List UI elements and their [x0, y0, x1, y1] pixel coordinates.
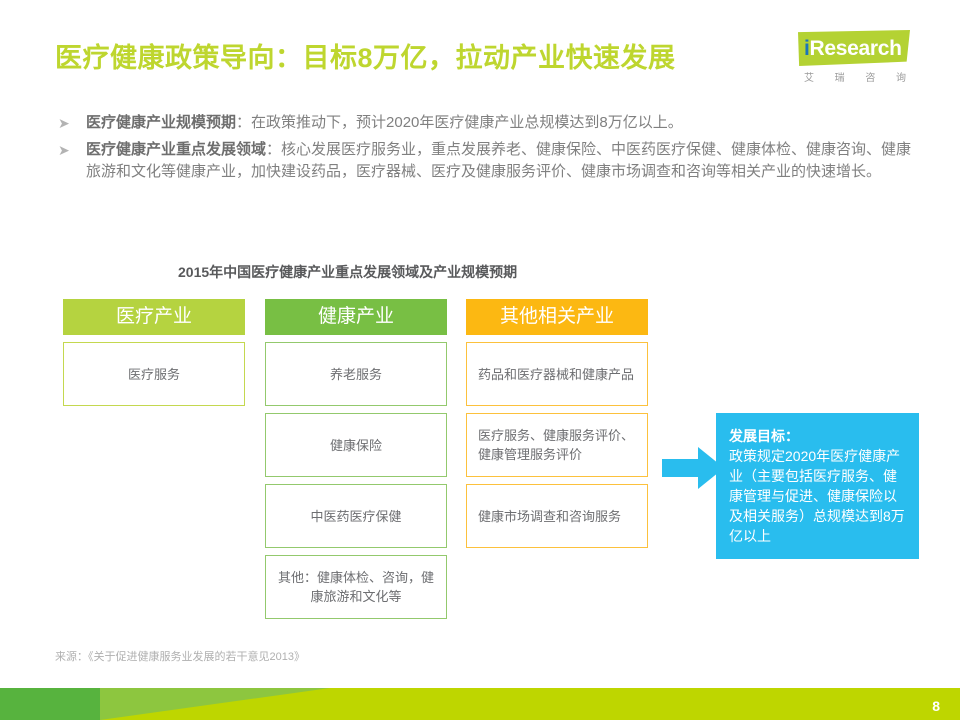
callout-heading: 发展目标：: [729, 427, 906, 446]
cell-label: 其他：健康体检、咨询，健康旅游和文化等: [277, 568, 435, 606]
table-cell: 医疗服务: [63, 342, 245, 406]
iresearch-logo: iResearch 艾 瑞 咨 询: [790, 30, 910, 88]
bullet-label: 医疗健康产业规模预期: [86, 114, 236, 131]
cell-label: 医疗服务: [128, 365, 180, 384]
bullet-item: ➤ 医疗健康产业规模预期：在政策推动下，预计2020年医疗健康产业总规模达到8万…: [58, 112, 918, 135]
bullet-label: 医疗健康产业重点发展领域: [86, 141, 266, 158]
table-cell: 健康保险: [265, 413, 447, 477]
column-header: 其他相关产业: [466, 299, 648, 335]
column-other-related-industry: 其他相关产业 药品和医疗器械和健康产品 医疗服务、健康服务评价、健康管理服务评价…: [466, 299, 648, 548]
bullet-text: ：在政策推动下，预计2020年医疗健康产业总规模达到8万亿以上。: [236, 114, 683, 131]
logo-sub-char-3: 咨: [865, 69, 875, 84]
logo-wordmark: iResearch: [804, 37, 909, 61]
column-health-industry: 健康产业 养老服务 健康保险 中医药医疗保健 其他：健康体检、咨询，健康旅游和文…: [265, 299, 447, 619]
cell-label: 医疗服务、健康服务评价、健康管理服务评价: [478, 426, 636, 464]
column-header: 医疗产业: [63, 299, 245, 335]
table-cell: 中医药医疗保健: [265, 484, 447, 548]
slide: 医疗健康政策导向：目标8万亿，拉动产业快速发展 iResearch 艾 瑞 咨 …: [0, 0, 960, 720]
bullet-body: 医疗健康产业规模预期：在政策推动下，预计2020年医疗健康产业总规模达到8万亿以…: [86, 112, 683, 135]
column-header: 健康产业: [265, 299, 447, 335]
bullet-arrow-icon: ➤: [58, 139, 86, 161]
footer-accent-block: [0, 688, 100, 720]
chart-title: 2015年中国医疗健康产业重点发展领域及产业规模预期: [178, 262, 517, 282]
bullet-list: ➤ 医疗健康产业规模预期：在政策推动下，预计2020年医疗健康产业总规模达到8万…: [58, 112, 918, 188]
table-cell: 健康市场调查和咨询服务: [466, 484, 648, 548]
arrow-stem: [662, 459, 700, 477]
footer-bar: 8: [0, 688, 960, 720]
cell-label: 健康保险: [330, 436, 382, 455]
source-note: 来源：《关于促进健康服务业发展的若干意见2013》: [55, 648, 305, 664]
table-cell: 其他：健康体检、咨询，健康旅游和文化等: [265, 555, 447, 619]
table-cell: 养老服务: [265, 342, 447, 406]
bullet-item: ➤ 医疗健康产业重点发展领域：核心发展医疗服务业，重点发展养老、健康保险、中医药…: [58, 139, 918, 184]
logo-sub-char-1: 艾: [804, 69, 814, 84]
cell-label: 药品和医疗器械和健康产品: [478, 365, 634, 384]
cell-label: 中医药医疗保健: [310, 507, 401, 526]
table-cell: 医疗服务、健康服务评价、健康管理服务评价: [466, 413, 648, 477]
table-cell: 药品和医疗器械和健康产品: [466, 342, 648, 406]
bullet-body: 医疗健康产业重点发展领域：核心发展医疗服务业，重点发展养老、健康保险、中医药医疗…: [86, 139, 918, 184]
logo-letters-research: Research: [810, 37, 902, 60]
column-medical-industry: 医疗产业 医疗服务: [63, 299, 245, 406]
right-arrow-icon: [662, 447, 724, 489]
callout-text: 政策规定2020年医疗健康产业（主要包括医疗服务、健康管理与促进、健康保险以及相…: [729, 446, 906, 546]
cell-label: 养老服务: [330, 365, 382, 384]
bullet-arrow-icon: ➤: [58, 112, 86, 134]
development-goal-callout: 发展目标： 政策规定2020年医疗健康产业（主要包括医疗服务、健康管理与促进、健…: [716, 413, 919, 559]
logo-sub-char-2: 瑞: [835, 69, 845, 84]
page-number: 8: [932, 698, 940, 714]
cell-label: 健康市场调查和咨询服务: [478, 507, 621, 526]
logo-subtitle: 艾 瑞 咨 询: [800, 69, 910, 84]
logo-sub-char-4: 询: [896, 69, 906, 84]
page-title: 医疗健康政策导向：目标8万亿，拉动产业快速发展: [55, 36, 676, 75]
